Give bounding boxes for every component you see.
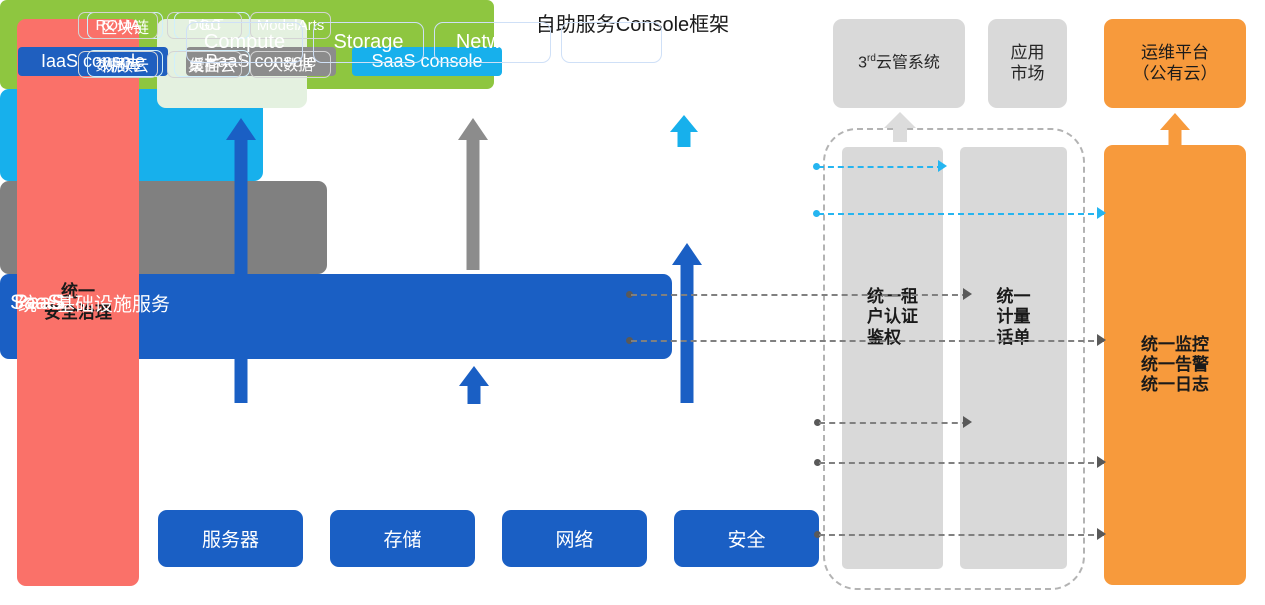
resource-box-server[interactable]: 服务器 — [158, 510, 303, 567]
unified-infrastructure-label: 统一基础设施服务 — [18, 289, 170, 316]
connector-arrowhead — [1097, 528, 1106, 540]
connector-infra-to-auth — [819, 422, 968, 424]
unified-metering-billing-column[interactable]: 统一 计量 话单 — [960, 147, 1067, 569]
connector-resources-to-ops — [819, 534, 1104, 536]
connector-arrowhead — [1097, 207, 1106, 219]
arrow-infra-to-paas — [459, 366, 489, 404]
connector-arrowhead — [1097, 456, 1106, 468]
app-market-box[interactable]: 应用 市场 — [988, 19, 1067, 108]
connector-arrowhead — [938, 160, 947, 172]
arrow-infra-to-api-gateway — [226, 118, 256, 403]
resource-box-network[interactable]: 网络 — [502, 510, 647, 567]
arrow-infra-to-saas — [672, 243, 702, 403]
unified-metering-billing-label: 统一 计量 话单 — [997, 287, 1031, 348]
app-market-label: 应用 市场 — [1011, 43, 1045, 83]
ops-platform-label: 运维平台 （公有云） — [1133, 43, 1218, 83]
unified-tenant-auth-column[interactable]: 统一租 户认证 鉴权 — [842, 147, 943, 569]
arrow-paas-to-console — [458, 118, 488, 270]
infrastructure-chip[interactable]: Network — [434, 22, 551, 63]
infrastructure-chip[interactable]: CCE — [561, 22, 662, 63]
resource-box-storage[interactable]: 存储 — [330, 510, 475, 567]
connector-arrowhead — [963, 416, 972, 428]
connector-paas-to-ops — [631, 340, 1104, 342]
unified-tenant-auth-label: 统一租 户认证 鉴权 — [867, 287, 918, 348]
arrow-saas-to-console — [670, 115, 698, 147]
unified-monitoring-panel[interactable]: 统一监控 统一告警 统一日志 — [1104, 145, 1246, 585]
ops-platform-box[interactable]: 运维平台 （公有云） — [1104, 19, 1246, 108]
connector-saas-to-auth — [818, 166, 943, 168]
architecture-diagram: 统一 安全治理 API网关 自助服务Console框架 IaaS console… — [0, 0, 1265, 605]
connector-paas-to-auth — [631, 294, 968, 296]
connector-infra-to-ops — [819, 462, 1104, 464]
arrow-ops-unified-to-platform — [1160, 113, 1190, 146]
infrastructure-chip[interactable]: Storage — [313, 22, 424, 63]
arrow-shared-to-third-party — [884, 112, 916, 142]
third-party-cloud-management-label: 3rd云管系统 — [858, 53, 940, 73]
infrastructure-chip[interactable]: Compute — [186, 22, 303, 63]
connector-arrowhead — [1097, 334, 1106, 346]
paas-service-chip[interactable]: ROMA — [78, 12, 158, 39]
unified-monitoring-label: 统一监控 统一告警 统一日志 — [1141, 335, 1209, 395]
paas-service-chip[interactable]: 数据库 — [78, 51, 158, 78]
third-party-superscript: rd — [867, 53, 876, 64]
connector-arrowhead — [963, 288, 972, 300]
connector-saas-to-ops — [818, 213, 1104, 215]
resource-box-security[interactable]: 安全 — [674, 510, 819, 567]
third-party-cloud-management-box[interactable]: 3rd云管系统 — [833, 19, 965, 108]
